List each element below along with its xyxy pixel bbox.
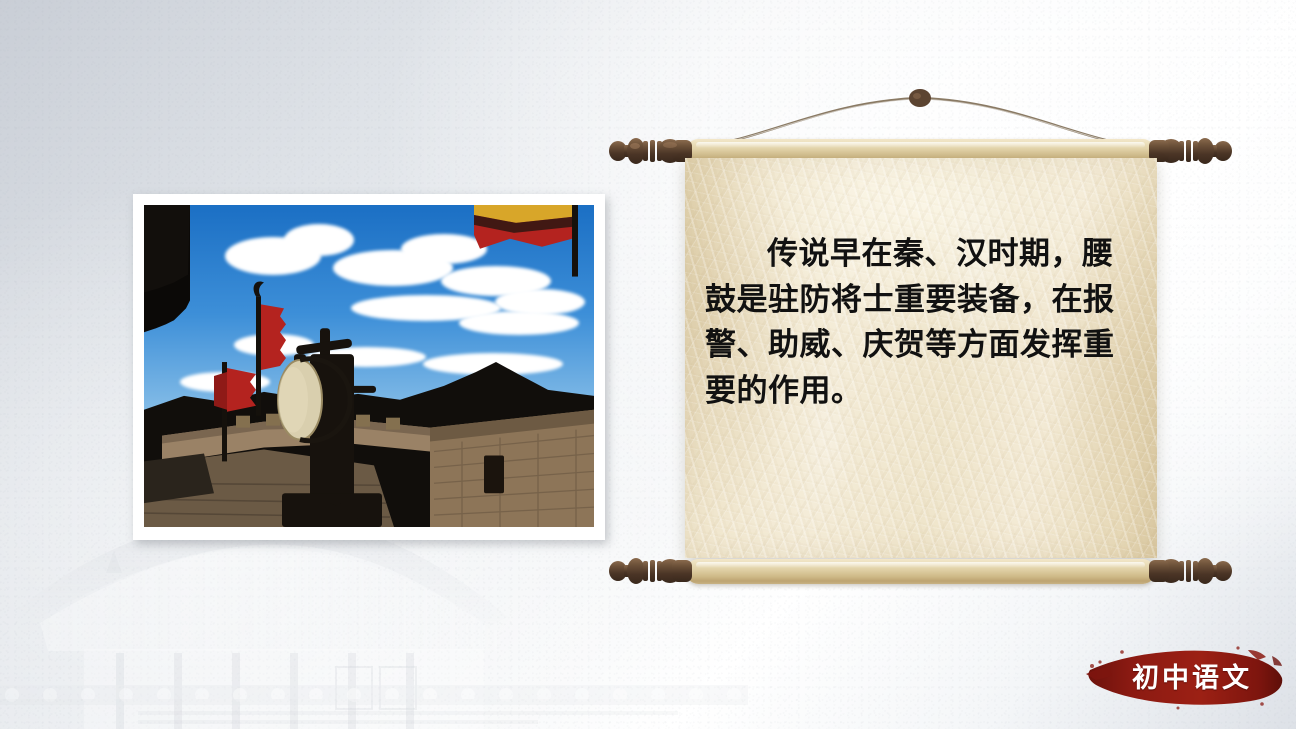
scroll-finial-top-right [1149,133,1233,169]
scroll-rod-bottom [608,551,1233,591]
subject-logo: 初中语文 [1086,636,1286,714]
scroll-body-text: 传说早在秦、汉时期，腰鼓是驻防将士重要装备，在报警、助威、庆贺等方面发挥重要的作… [705,232,1139,414]
photo-frame [133,194,605,540]
photo-silhouettes [144,205,594,527]
hanging-scroll: 传说早在秦、汉时期，腰鼓是驻防将士重要装备，在报警、助威、庆贺等方面发挥重要的作… [608,86,1233,598]
slide-canvas: 传说早在秦、汉时期，腰鼓是驻防将士重要装备，在报警、助威、庆贺等方面发挥重要的作… [0,0,1296,729]
scroll-finial-bottom-left [608,553,692,589]
scroll-paper: 传说早在秦、汉时期，腰鼓是驻防将士重要装备，在报警、助威、庆贺等方面发挥重要的作… [685,158,1157,558]
scroll-rod-bar-bottom [686,559,1155,584]
scroll-finial-bottom-right [1149,553,1233,589]
great-wall-drum-photo [144,205,594,527]
logo-label: 初中语文 [1132,656,1277,695]
scroll-finial-top-left [608,133,692,169]
